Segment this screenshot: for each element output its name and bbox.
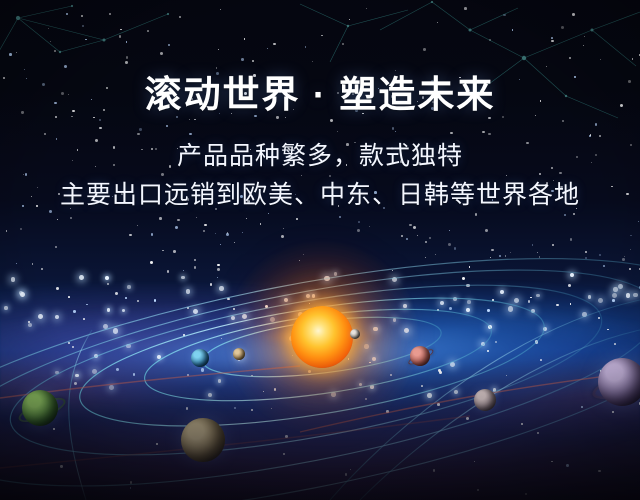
planet-green-ringed-ring: [16, 393, 68, 426]
subtitle-line-2: 主要出口远销到欧美、中东、日韩等世界各地: [0, 178, 640, 213]
planet-tan-large-body: [181, 418, 225, 462]
sun-core: [291, 306, 353, 368]
main-title: 滚动世界 · 塑造未来: [0, 72, 640, 117]
planet-green-ringed-body: [22, 390, 58, 426]
space-banner: 滚动世界 · 塑造未来 产品品种繁多，款式独特 主要出口远销到欧美、中东、日韩等…: [0, 0, 640, 500]
headline-block: 滚动世界 · 塑造未来 产品品种繁多，款式独特 主要出口远销到欧美、中东、日韩等…: [0, 72, 640, 212]
planet-purple-ringed-ring: [590, 364, 640, 405]
subtitle-line-1: 产品品种繁多，款式独特: [0, 139, 640, 174]
planet-earth-body: [191, 349, 209, 367]
planet-grey-pink-body: [474, 389, 496, 411]
planet-purple-ringed-body: [598, 358, 640, 406]
